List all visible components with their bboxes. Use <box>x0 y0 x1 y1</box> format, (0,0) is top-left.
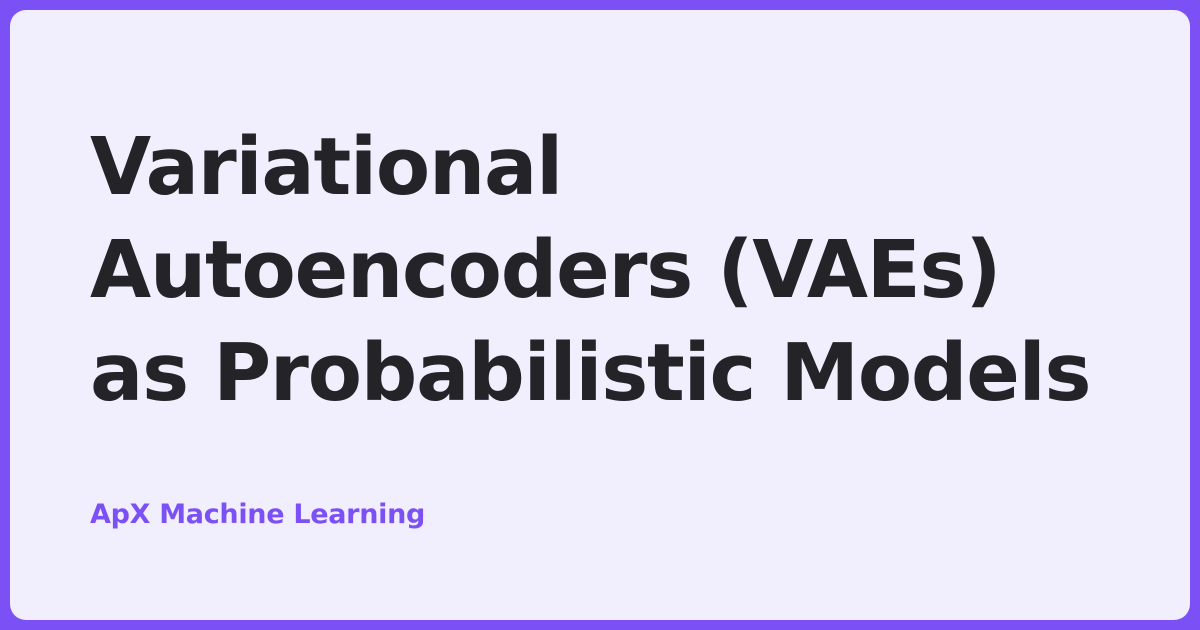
site-name-label: ApX Machine Learning <box>90 498 425 532</box>
og-card: Variational Autoencoders (VAEs) as Proba… <box>0 0 1200 630</box>
page-title: Variational Autoencoders (VAEs) as Proba… <box>90 116 1120 425</box>
card-panel: Variational Autoencoders (VAEs) as Proba… <box>10 10 1190 620</box>
card-content: Variational Autoencoders (VAEs) as Proba… <box>90 10 1130 620</box>
